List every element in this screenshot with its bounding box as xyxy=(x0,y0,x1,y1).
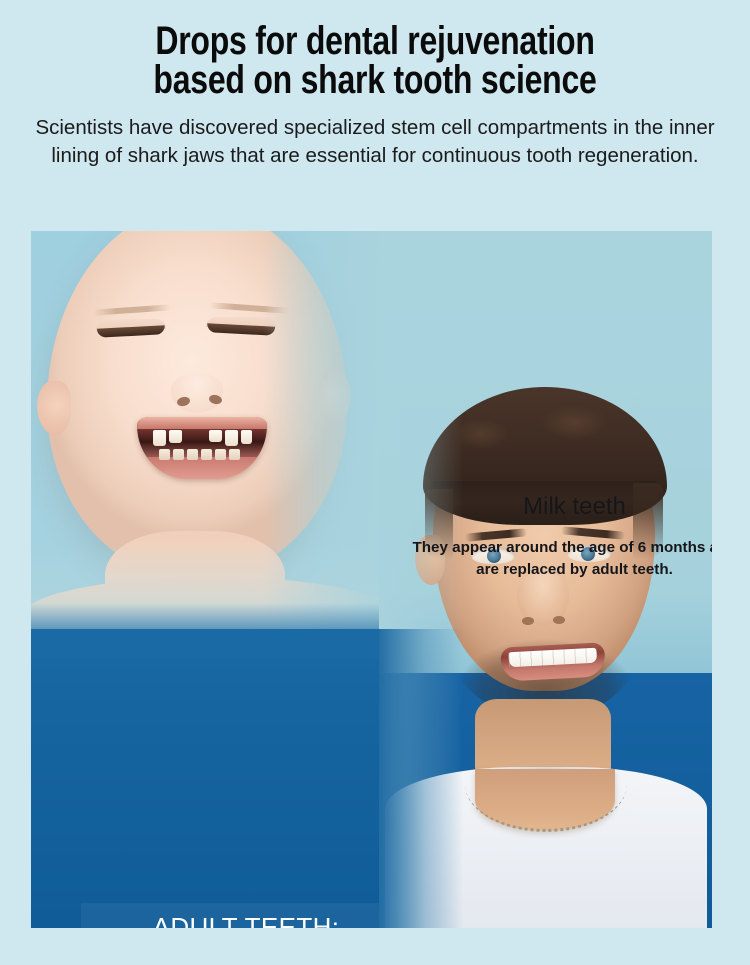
title-line-1: Drops for dental rejuvenation xyxy=(155,19,594,63)
page-title: Drops for dental rejuvenation based on s… xyxy=(75,22,675,100)
man-necklace-chain xyxy=(465,737,627,832)
man-teeth xyxy=(508,648,597,668)
milk-teeth-heading: Milk teeth xyxy=(406,493,712,521)
adult-teeth-heading: ADULT TEETH: xyxy=(81,912,411,928)
child-upper-lip xyxy=(137,417,267,429)
child-upper-teeth xyxy=(153,430,253,448)
milk-teeth-body: They appear around the age of 6 months a… xyxy=(406,537,712,580)
title-line-2: based on shark tooth science xyxy=(75,61,675,100)
adult-teeth-text-block: ADULT TEETH: The second set of teeth tha… xyxy=(81,912,411,928)
adult-man-photo xyxy=(379,381,712,928)
man-photo-left-fade-lower xyxy=(379,629,463,928)
man-smile xyxy=(500,642,606,681)
header: Drops for dental rejuvenation based on s… xyxy=(0,0,750,169)
milk-teeth-text-block: Milk teeth They appear around the age of… xyxy=(406,493,712,580)
page-subtitle: Scientists have discovered specialized s… xyxy=(25,114,725,169)
photo-panel: Milk teeth They appear around the age of… xyxy=(31,231,712,928)
child-mouth xyxy=(137,417,267,479)
child-lower-teeth xyxy=(159,449,247,461)
child-ear-left xyxy=(37,381,71,435)
child-photo xyxy=(31,231,383,631)
child-nose xyxy=(171,373,223,413)
